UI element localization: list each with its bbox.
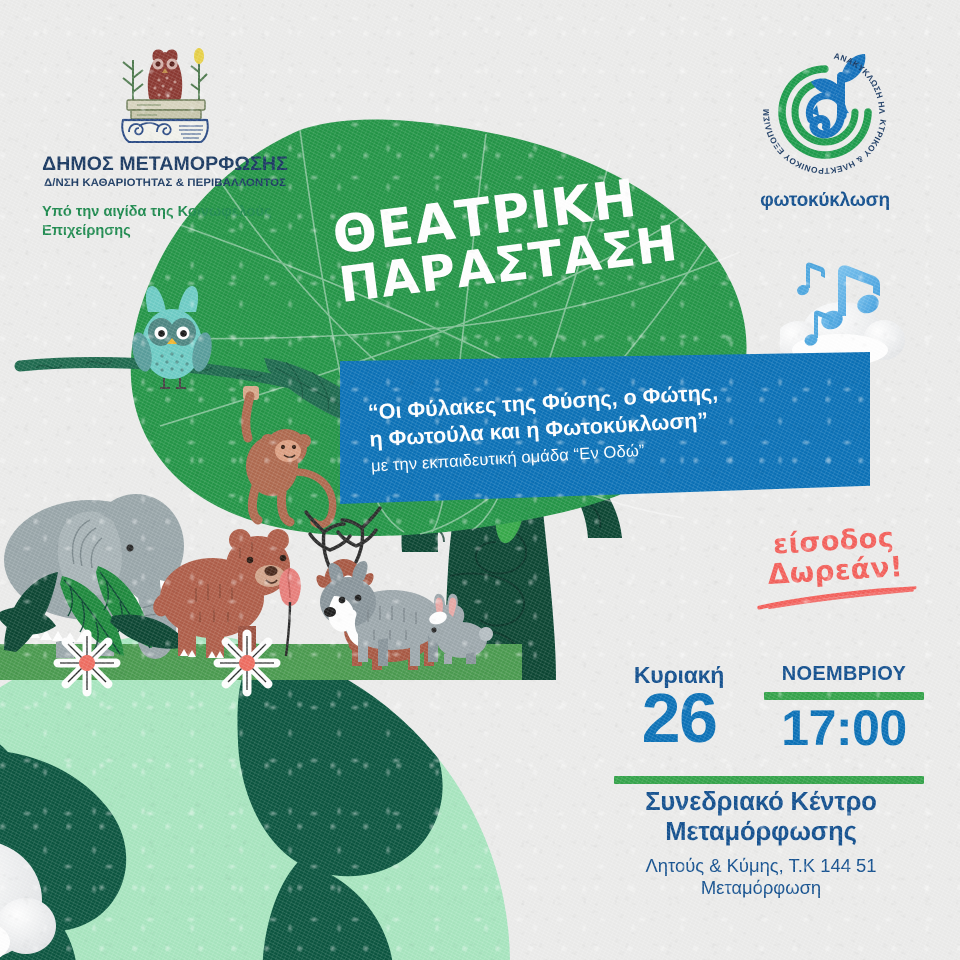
performance-banner: “Οι Φύλακες της Φύσης, ο Φώτης, η Φωτούλ… bbox=[340, 352, 870, 504]
owl-on-books-crest-icon bbox=[105, 36, 225, 148]
date-bottom-rule bbox=[614, 776, 924, 784]
venue-name-line-2: Μεταμόρφωσης bbox=[586, 818, 936, 848]
recycling-sprout-logo-icon: ΑΝΑΚΥΚΛΩΣΗ ΗΛΕ ΚΤΡΙΚΟΥ & ΗΛΕΚΤΡΟΝΙΚΟΥ ΕΞ… bbox=[755, 42, 895, 182]
event-time: 17:00 bbox=[764, 702, 924, 755]
month-name: ΝΟΕΜΒΡΙΟΥ bbox=[764, 664, 924, 684]
sponsor-name: φωτοκύκλωση bbox=[730, 190, 920, 212]
venue-name: Συνεδριακό Κέντρο Μεταμόρφωσης bbox=[586, 788, 936, 847]
municipality-name: ΔΗΜΟΣ ΜΕΤΑΜΟΡΦΩΣΗΣ bbox=[30, 154, 300, 174]
aegis-line-2: Επιχείρησης bbox=[42, 222, 300, 241]
venue-address: Λητούς & Κύμης, Τ.Κ 144 51 bbox=[586, 855, 936, 877]
music-notes-cloud-icon bbox=[780, 250, 950, 370]
municipality-logo-block: ΔΗΜΟΣ ΜΕΤΑΜΟΡΦΩΣΗΣ Δ/ΝΣΗ ΚΑΘΑΡΙΟΤΗΤΑΣ & … bbox=[30, 36, 300, 241]
svg-text:ΑΝΑΚΥΚΛΩΣΗ ΗΛΕ: ΑΝΑΚΥΚΛΩΣΗ ΗΛΕ bbox=[755, 42, 887, 114]
daisy-icon bbox=[212, 628, 282, 703]
month-rule bbox=[764, 692, 924, 700]
venue-city: Μεταμόρφωση bbox=[586, 877, 936, 899]
free-entry-note: είσοδος Δωρεάν! bbox=[733, 522, 937, 609]
date-time-column: ΝΟΕΜΒΡΙΟΥ 17:00 bbox=[764, 664, 924, 772]
venue-name-line-1: Συνεδριακό Κέντρο bbox=[586, 788, 936, 818]
day-number: 26 bbox=[614, 685, 744, 752]
sponsor-logo-block: ΑΝΑΚΥΚΛΩΣΗ ΗΛΕ ΚΤΡΙΚΟΥ & ΗΛΕΚΤΡΟΝΙΚΟΥ ΕΞ… bbox=[730, 42, 920, 212]
aegis-line-1: Υπό την αιγίδα της Κοινωφελούς bbox=[42, 203, 300, 222]
date-day-column: Κυριακή 26 bbox=[614, 664, 744, 772]
event-date-block: Κυριακή 26 ΝΟΕΜΒΡΙΟΥ 17:00 bbox=[614, 664, 924, 784]
poster-canvas: ΘΕΑΤΡΙΚΗ ΠΑΡΑΣΤΑΣΗ “Οι Φύλακες της Φύσης… bbox=[0, 0, 960, 960]
aegis-text: Υπό την αιγίδα της Κοινωφελούς Επιχείρησ… bbox=[30, 203, 300, 241]
venue-block: Συνεδριακό Κέντρο Μεταμόρφωσης Λητούς & … bbox=[586, 788, 936, 899]
daisy-icon bbox=[52, 628, 122, 703]
municipality-department: Δ/ΝΣΗ ΚΑΘΑΡΙΟΤΗΤΑΣ & ΠΕΡΙΒΑΛΛΟΝΤΟΣ bbox=[30, 177, 300, 189]
